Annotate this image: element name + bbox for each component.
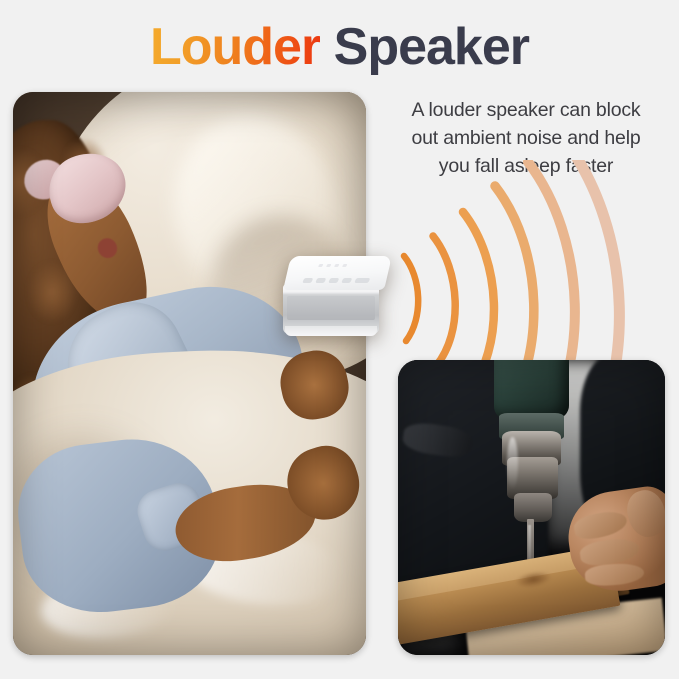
headline-word-speaker: Speaker: [334, 18, 529, 76]
speaker-button-power[interactable]: [302, 278, 313, 283]
speaker-indicator-dot: [326, 264, 331, 267]
white-noise-speaker-device: [283, 256, 393, 338]
speaker-indicator-dot: [342, 264, 347, 267]
speaker-top-panel: [283, 256, 392, 290]
drill-chuck-lower: [514, 493, 551, 523]
description-line-2: out ambient noise and help: [378, 124, 674, 152]
sound-wave-arc-2: [433, 236, 455, 366]
sound-wave-arc-1: [404, 256, 418, 341]
speaker-indicator-dot: [318, 264, 323, 267]
description-line-1: A louder speaker can block: [378, 96, 674, 124]
drill-photo: [398, 360, 665, 655]
speaker-grille: [287, 296, 375, 320]
speaker-base: [285, 326, 377, 336]
bedroom-photo: [13, 92, 366, 655]
speaker-indicator-dot: [334, 264, 339, 267]
speaker-button-volume-down[interactable]: [341, 278, 352, 283]
poster-canvas: Louder Speaker A louder speaker can bloc…: [0, 0, 679, 679]
headline-word-louder: Louder: [150, 18, 320, 76]
speaker-button-sound[interactable]: [315, 278, 326, 283]
speaker-button-timer[interactable]: [328, 278, 339, 283]
power-drill-housing: [494, 360, 569, 419]
page-title: Louder Speaker: [0, 16, 679, 78]
speaker-button-volume-up[interactable]: [354, 278, 370, 283]
